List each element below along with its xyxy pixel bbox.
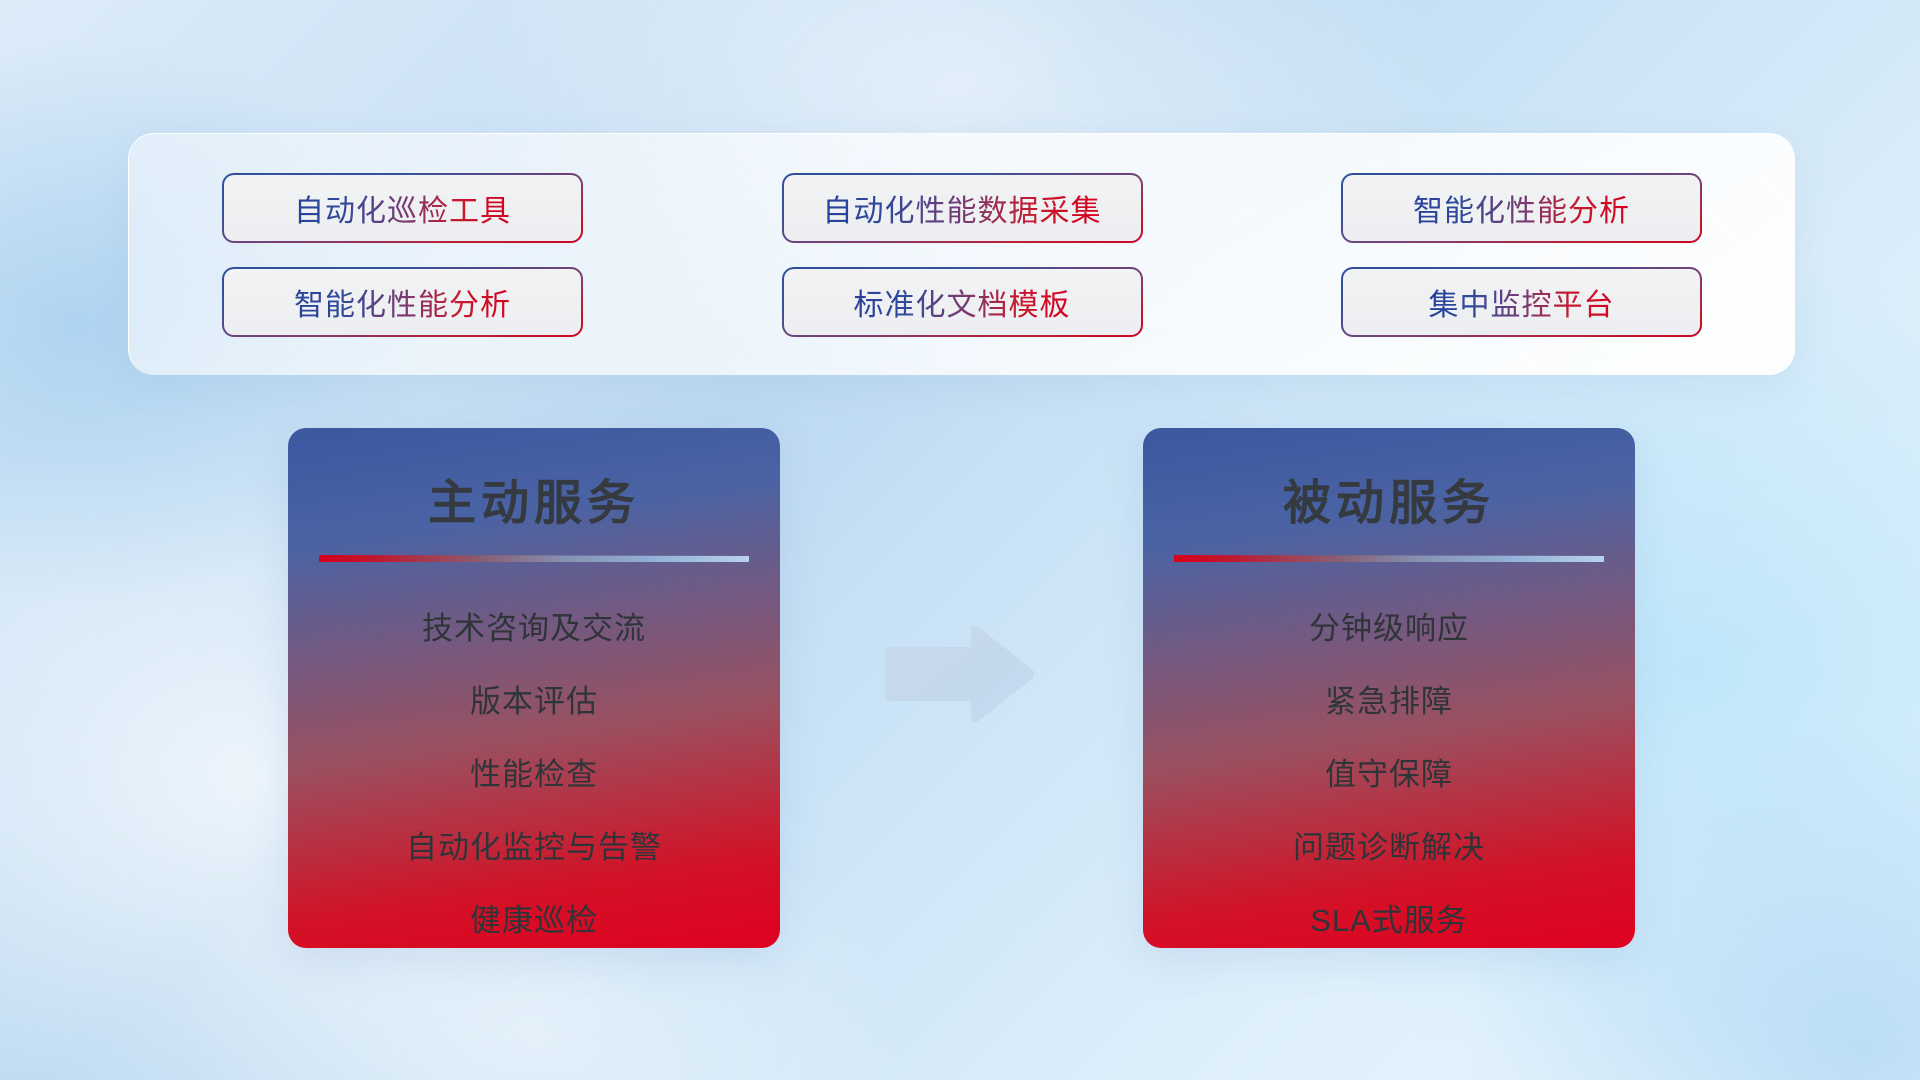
capability-pill[interactable]: 集中监控平台 — [1343, 269, 1700, 335]
capabilities-row-2: 智能化性能分析 标准化文档模板 集中监控平台 — [224, 269, 1700, 335]
list-item[interactable]: 问题诊断解决 — [1143, 811, 1635, 884]
list-item[interactable]: 值守保障 — [1143, 738, 1635, 811]
capabilities-banner: 自动化巡检工具 自动化性能数据采集 智能化性能分析 智能化性能分析 标准化文档模… — [128, 133, 1795, 375]
capability-pill-label: 自动化性能数据采集 — [823, 186, 1102, 230]
capability-pill[interactable]: 标准化文档模板 — [784, 269, 1141, 335]
list-item[interactable]: 分钟级响应 — [1143, 592, 1635, 665]
capability-pill-label: 集中监控平台 — [1429, 280, 1615, 324]
list-item[interactable]: SLA式服务 — [1143, 884, 1635, 948]
capability-pill[interactable]: 自动化巡检工具 — [224, 175, 581, 241]
list-item[interactable]: 技术咨询及交流 — [288, 592, 780, 665]
list-item[interactable]: 性能检查 — [288, 738, 780, 811]
capability-pill[interactable]: 智能化性能分析 — [224, 269, 581, 335]
card-divider — [1174, 555, 1604, 562]
list-item[interactable]: 健康巡检 — [288, 884, 780, 948]
arrow-right-icon — [879, 620, 1039, 730]
capability-pill-label: 智能化性能分析 — [294, 280, 511, 324]
service-card-proactive[interactable]: 主动服务 技术咨询及交流 版本评估 性能检查 自动化监控与告警 健康巡检 — [288, 428, 780, 948]
card-item-list: 分钟级响应 紧急排障 值守保障 问题诊断解决 SLA式服务 — [1143, 592, 1635, 948]
capabilities-row-1: 自动化巡检工具 自动化性能数据采集 智能化性能分析 — [224, 175, 1700, 241]
capability-pill-label: 智能化性能分析 — [1413, 186, 1630, 230]
capability-pill[interactable]: 自动化性能数据采集 — [784, 175, 1141, 241]
list-item[interactable]: 紧急排障 — [1143, 665, 1635, 738]
card-divider — [319, 555, 749, 562]
list-item[interactable]: 自动化监控与告警 — [288, 811, 780, 884]
card-title: 主动服务 — [288, 463, 780, 533]
capability-pill-label: 标准化文档模板 — [854, 280, 1071, 324]
capability-pill[interactable]: 智能化性能分析 — [1343, 175, 1700, 241]
card-title: 被动服务 — [1143, 463, 1635, 533]
service-card-reactive[interactable]: 被动服务 分钟级响应 紧急排障 值守保障 问题诊断解决 SLA式服务 — [1143, 428, 1635, 948]
card-item-list: 技术咨询及交流 版本评估 性能检查 自动化监控与告警 健康巡检 — [288, 592, 780, 948]
list-item[interactable]: 版本评估 — [288, 665, 780, 738]
capability-pill-label: 自动化巡检工具 — [294, 186, 511, 230]
